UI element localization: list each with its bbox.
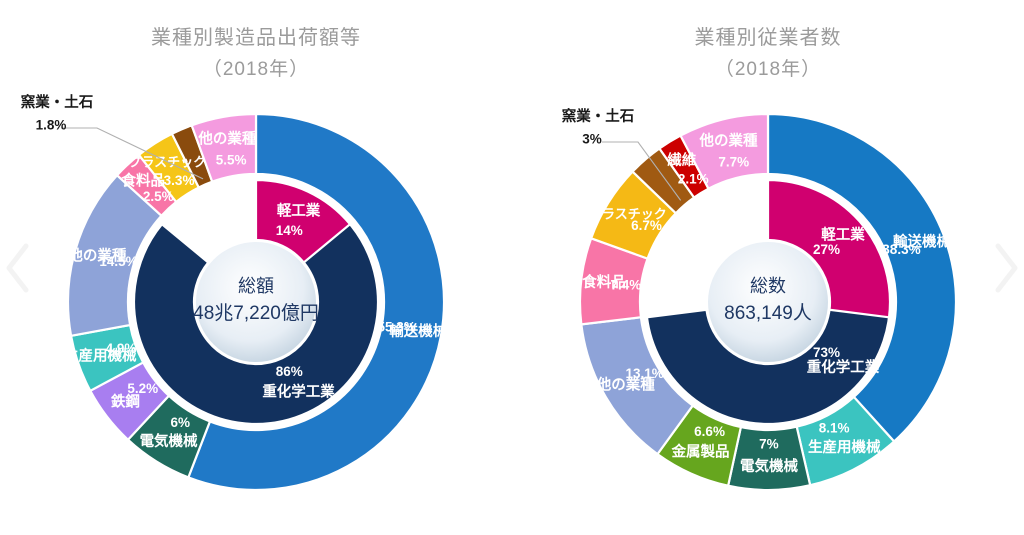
donut-svg: 輸送機械55.3%電気機械6%鉄鋼5.2%生産用機械4.9%他の業種14.5%食… <box>0 92 512 522</box>
donut-hub <box>196 242 316 362</box>
donut-hub <box>708 242 828 362</box>
chart-title: 業種別従業者数 <box>512 22 1024 54</box>
slide-canvas: 業種別製造品出荷額等 （2018年） 輸送機械55.3%電気機械6%鉄鋼5.2%… <box>0 0 1024 535</box>
center-total-value: 863,149人 <box>724 302 812 324</box>
chevron-right-icon[interactable] <box>988 240 1022 296</box>
donut-chart-shipment-value: 輸送機械55.3%電気機械6%鉄鋼5.2%生産用機械4.9%他の業種14.5%食… <box>0 92 512 522</box>
donut-chart-employee-count: 輸送機械38.3%生産用機械8.1%電気機械7%金属製品6.6%他の業種13.1… <box>512 92 1024 522</box>
slice-percent: 1.8% <box>36 118 67 133</box>
chart-subtitle: （2018年） <box>0 54 512 86</box>
slice-percent: 3% <box>582 132 602 147</box>
chart-panel-employee-count: 業種別従業者数 （2018年） 輸送機械38.3%生産用機械8.1%電気機械7%… <box>512 0 1024 535</box>
pie-slice-outer[interactable] <box>728 427 810 490</box>
center-total-value: 48兆7,220億円 <box>193 302 319 324</box>
slice-label: 窯業・土石 <box>21 93 94 111</box>
chart-panel-shipment-value: 業種別製造品出荷額等 （2018年） 輸送機械55.3%電気機械6%鉄鋼5.2%… <box>0 0 512 535</box>
center-total-label: 総額 <box>238 276 274 296</box>
donut-svg: 輸送機械38.3%生産用機械8.1%電気機械7%金属製品6.6%他の業種13.1… <box>512 92 1024 522</box>
slice-label: 窯業・土石 <box>562 107 635 125</box>
chart-subtitle: （2018年） <box>512 54 1024 86</box>
center-total-label: 総数 <box>750 276 786 296</box>
chart-title: 業種別製造品出荷額等 <box>0 22 512 54</box>
chevron-left-icon[interactable] <box>2 240 36 296</box>
